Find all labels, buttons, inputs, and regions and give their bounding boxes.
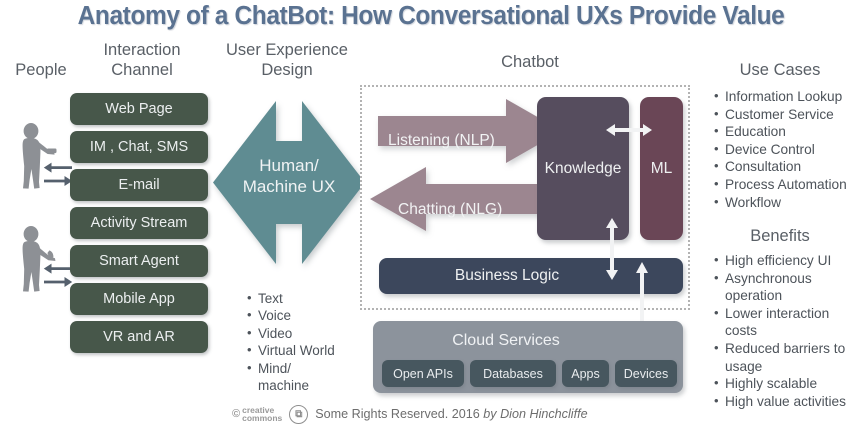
bidirectional-arrow-person-2	[43, 262, 73, 289]
rights-text: Some Rights Reserved. 2016	[315, 407, 480, 421]
column-header-interaction-channel: Interaction Channel	[78, 40, 206, 80]
list-item: Lower interaction	[725, 305, 862, 323]
cc-circle-icon: ©	[232, 410, 240, 419]
channel-item-activity-stream[interactable]: Activity Stream	[70, 207, 208, 239]
list-item: Information Lookup	[725, 88, 862, 106]
listening-nlp-label: Listening (NLP)	[388, 132, 495, 150]
human-machine-ux-arrow-shape	[213, 101, 365, 264]
list-item: Asynchronous	[725, 270, 862, 288]
list-item-wrap: usage	[725, 358, 862, 376]
ml-box[interactable]: ML	[640, 97, 683, 240]
cloud-service-devices[interactable]: Devices	[615, 360, 677, 387]
knowledge-business-logic-connector-arrow	[604, 218, 620, 280]
bidirectional-arrow-person-1	[43, 161, 73, 188]
list-item: Device Control	[725, 141, 862, 159]
business-logic-label: Business Logic	[455, 267, 559, 285]
column-header-ux-design-line1: User Experience	[208, 40, 366, 60]
listening-nlp-arrow	[378, 99, 562, 163]
channel-item-email[interactable]: E-mail	[70, 169, 208, 201]
ux-modalities-list: Text Voice Video Virtual World Mind/ mac…	[246, 290, 350, 394]
author-text: by Dion Hinchcliffe	[483, 407, 587, 421]
list-item: Mind/	[258, 360, 350, 377]
list-item: High value activities	[725, 393, 862, 411]
cloud-service-databases[interactable]: Databases	[470, 360, 556, 387]
column-header-benefits: Benefits	[700, 227, 860, 246]
list-item-wrap: costs	[725, 322, 862, 340]
list-item: Workflow	[725, 194, 862, 212]
page-title: Anatomy of a ChatBot: How Conversational…	[17, 2, 845, 31]
list-item-wrap: operation	[725, 287, 862, 305]
list-item: Text	[258, 290, 350, 307]
list-item: Process Automation	[725, 176, 862, 194]
chatting-nlg-label: Chatting (NLG)	[398, 201, 502, 219]
list-item: Highly scalable	[725, 375, 862, 393]
column-header-use-cases: Use Cases	[700, 60, 860, 80]
list-item: Video	[258, 325, 350, 342]
list-item: Voice	[258, 307, 350, 324]
use-cases-list: Information Lookup Customer Service Educ…	[713, 88, 862, 211]
channel-item-vr-and-ar[interactable]: VR and AR	[70, 321, 208, 353]
cc-share-icon: ⧉	[289, 405, 308, 424]
list-item: Customer Service	[725, 106, 862, 124]
list-item-wrap: machine	[246, 377, 350, 394]
column-header-chatbot: Chatbot	[380, 52, 680, 72]
list-item: Education	[725, 123, 862, 141]
knowledge-ml-connector-arrow	[606, 122, 652, 138]
chatting-nlg-arrow	[370, 167, 554, 231]
cloud-services-title: Cloud Services	[351, 332, 661, 350]
cloud-service-apps[interactable]: Apps	[562, 360, 609, 387]
cc-word-bottom: commons	[242, 414, 282, 423]
cloud-service-open-apis[interactable]: Open APIs	[382, 360, 464, 387]
list-item: Consultation	[725, 158, 862, 176]
column-header-interaction-channel-line2: Channel	[78, 60, 206, 80]
column-header-ux-design: User Experience Design	[208, 40, 366, 80]
channel-item-im-chat-sms[interactable]: IM , Chat, SMS	[70, 131, 208, 163]
infographic-canvas: Anatomy of a ChatBot: How Conversational…	[0, 0, 862, 431]
column-header-ux-design-line2: Design	[208, 60, 366, 80]
column-header-people: People	[2, 60, 80, 80]
list-item: Virtual World	[258, 342, 350, 359]
channel-item-smart-agent[interactable]: Smart Agent	[70, 245, 208, 277]
channel-item-mobile-app[interactable]: Mobile App	[70, 283, 208, 315]
creative-commons-logo[interactable]: © creative commons	[232, 406, 282, 423]
attribution-text: Some Rights Reserved. 2016 by Dion Hinch…	[315, 407, 587, 421]
column-header-interaction-channel-line1: Interaction	[78, 40, 206, 60]
list-item: High efficiency UI	[725, 252, 862, 270]
channel-item-web-page[interactable]: Web Page	[70, 93, 208, 125]
attribution-footer: © creative commons ⧉ Some Rights Reserve…	[232, 402, 588, 426]
list-item: Reduced barriers to	[725, 340, 862, 358]
benefits-list: High efficiency UI Asynchronous operatio…	[713, 252, 862, 410]
